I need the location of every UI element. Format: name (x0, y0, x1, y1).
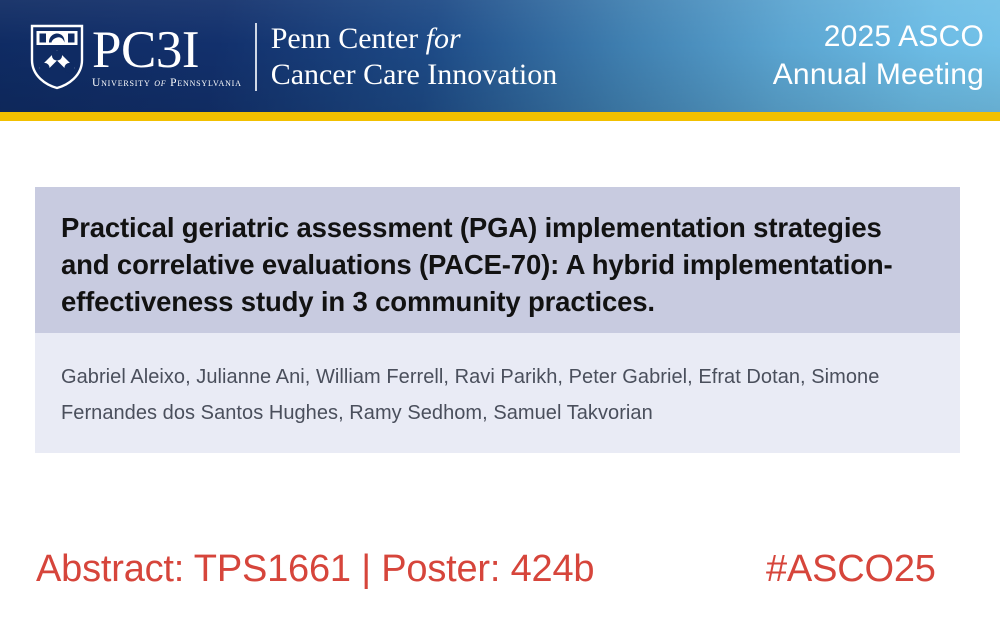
pc3i-logo-lockup: PC3I University of Pennsylvania Penn Cen… (30, 18, 557, 96)
university-of-pennsylvania-shield-icon (30, 24, 84, 90)
meeting-title-line1: 2025 ASCO (773, 18, 984, 56)
logo-divider (255, 23, 257, 91)
hashtag-label: #ASCO25 (766, 546, 936, 592)
author-list: Gabriel Aleixo, Julianne Ani, William Fe… (61, 359, 936, 431)
university-name: University of Pennsylvania (92, 76, 242, 90)
abstract-poster-label: Abstract: TPS1661 | Poster: 424b (36, 546, 594, 592)
university-name-of: of (154, 77, 166, 89)
meeting-title: 2025 ASCO Annual Meeting (773, 18, 984, 94)
university-name-pre: University (92, 77, 154, 89)
header-banner: PC3I University of Pennsylvania Penn Cen… (0, 0, 1000, 112)
author-list-card: Gabriel Aleixo, Julianne Ani, William Fe… (35, 333, 960, 453)
study-title: Practical geriatric assessment (PGA) imp… (61, 209, 936, 320)
university-name-post: Pennsylvania (166, 77, 241, 89)
pc3i-acronym: PC3I (92, 25, 242, 75)
study-title-card: Practical geriatric assessment (PGA) imp… (35, 187, 960, 333)
meeting-title-line2: Annual Meeting (773, 56, 984, 94)
center-name-line1-pre: Penn Center (271, 22, 426, 55)
center-name-for: for (426, 22, 461, 55)
pc3i-wordmark: PC3I University of Pennsylvania (92, 21, 242, 93)
center-name: Penn Center for Cancer Care Innovation (271, 21, 558, 93)
gold-accent-rule (0, 112, 1000, 121)
center-name-line1: Penn Center for (271, 21, 558, 57)
center-name-line2: Cancer Care Innovation (271, 57, 558, 93)
